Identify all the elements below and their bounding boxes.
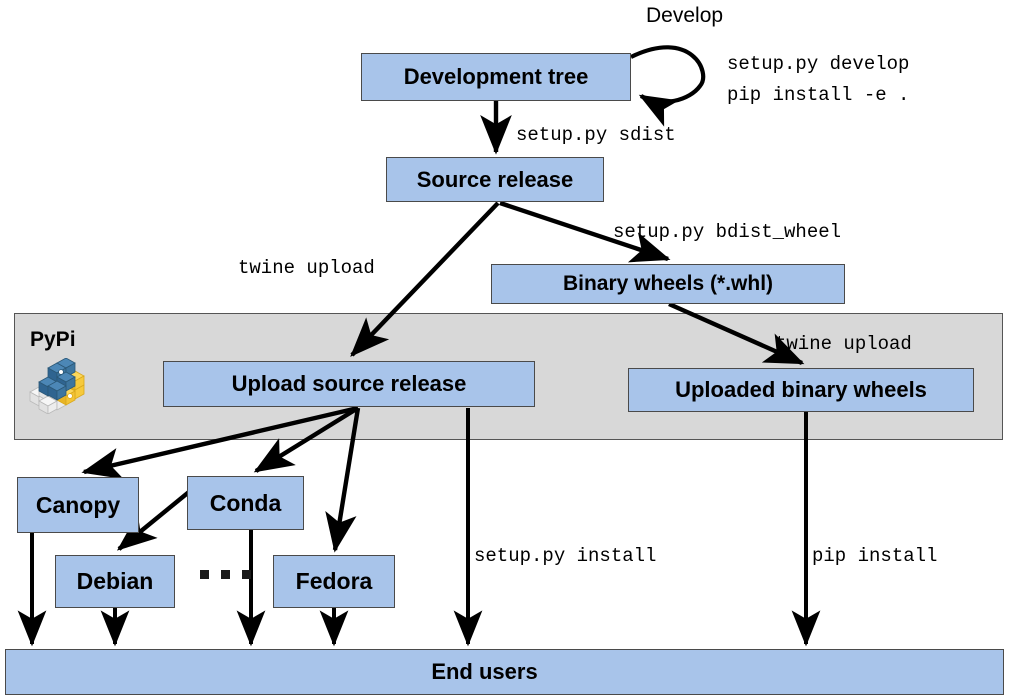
edge-label-setup-py-bdist: setup.py bdist_wheel	[613, 219, 841, 245]
node-debian[interactable]: Debian	[55, 555, 175, 608]
node-label: Conda	[210, 490, 282, 517]
node-fedora[interactable]: Fedora	[273, 555, 395, 608]
edge-label-setup-py-install: setup.py install	[474, 543, 656, 569]
node-label: Source release	[417, 167, 574, 193]
node-binary-wheels[interactable]: Binary wheels (*.whl)	[491, 264, 845, 304]
diagram-canvas: PyPi	[0, 0, 1009, 698]
node-label: Canopy	[36, 492, 120, 519]
node-development-tree[interactable]: Development tree	[361, 53, 631, 101]
edge-label-pip-install: pip install	[812, 543, 937, 569]
edge-label-develop: Develop	[646, 4, 723, 28]
node-label: Uploaded binary wheels	[675, 377, 927, 403]
node-label: Upload source release	[232, 371, 467, 397]
ellipsis-dots	[200, 570, 251, 579]
edge-label-twine-upload-src: twine upload	[238, 255, 375, 281]
node-conda[interactable]: Conda	[187, 476, 304, 530]
node-label: Binary wheels (*.whl)	[563, 272, 773, 296]
dot-3	[242, 570, 251, 579]
edge-develop-self-loop	[631, 47, 703, 102]
node-canopy[interactable]: Canopy	[17, 477, 139, 533]
node-label: Debian	[77, 568, 154, 595]
node-label: Fedora	[296, 568, 373, 595]
edge-label-twine-upload-whl: twine upload	[775, 331, 912, 357]
node-uploaded-binary-wheels[interactable]: Uploaded binary wheels	[628, 368, 974, 412]
node-label: Development tree	[404, 64, 589, 90]
node-end-users[interactable]: End users	[5, 649, 1004, 695]
node-source-release[interactable]: Source release	[386, 157, 604, 202]
pypi-group-title: PyPi	[30, 328, 76, 352]
pypi-logo-icon	[28, 358, 90, 419]
edge-label-setup-py-sdist: setup.py sdist	[516, 122, 676, 148]
dot-1	[200, 570, 209, 579]
pypi-logo-svg	[28, 358, 90, 414]
edge-label-setup-py-develop: setup.py develop	[727, 51, 909, 77]
edge-label-pip-install-e: pip install -e .	[727, 82, 909, 108]
node-upload-source-release[interactable]: Upload source release	[163, 361, 535, 407]
node-label: End users	[431, 659, 537, 685]
dot-2	[221, 570, 230, 579]
